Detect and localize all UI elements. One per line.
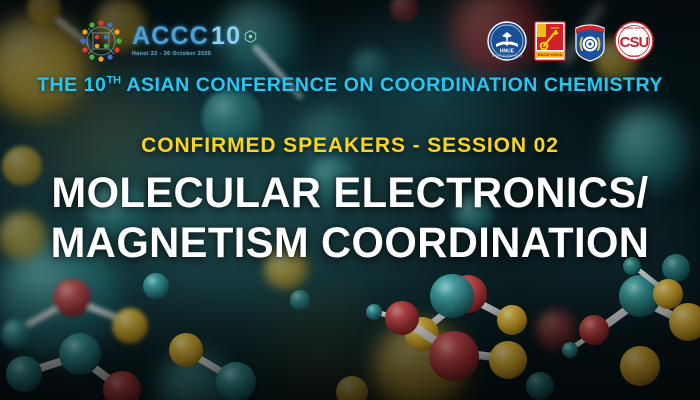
banner-header: ACCC10 Hanoi 22 - 26 October 2025 HNUE <box>0 14 700 68</box>
accc10-molecule-emblem <box>78 18 124 64</box>
accc10-dateline: Hanoi 22 - 26 October 2025 <box>132 52 257 57</box>
bach-khoa-logo[interactable]: HUST BACH KHOA <box>534 21 566 61</box>
svg-text:TRUONG DAI HOC: TRUONG DAI HOC <box>621 26 648 30</box>
conference-headline: THE 10TH ASIAN CONFERENCE ON COORDINATIO… <box>0 74 700 97</box>
csu-logo[interactable]: TRUONG DAI HOC CAN THO CSU <box>614 21 654 61</box>
svg-text:CAN THO: CAN THO <box>628 54 642 58</box>
accc10-brand: ACCC10 Hanoi 22 - 26 October 2025 <box>78 18 257 64</box>
svg-text:HNUE: HNUE <box>500 49 515 55</box>
hexagon-icon <box>244 30 257 43</box>
svg-text:CSU: CSU <box>620 34 649 51</box>
partner-logos: HNUE DAI HOC SU PHAM HA NOI HUST BACH KH… <box>487 20 654 62</box>
accc10-wordmark: ACCC10 Hanoi 22 - 26 October 2025 <box>132 24 257 57</box>
session-title-line-1: MOLECULAR ELECTRONICS/ <box>11 168 690 218</box>
svg-text:HUST: HUST <box>551 26 559 30</box>
svg-text:BACH KHOA: BACH KHOA <box>538 52 563 57</box>
headline-ordinal: TH <box>106 75 121 87</box>
session-label: CONFIRMED SPEAKERS - SESSION 02 <box>0 134 700 158</box>
svg-text:DAI HOC SU PHAM HA NOI: DAI HOC SU PHAM HA NOI <box>492 55 523 58</box>
session-title: MOLECULAR ELECTRONICS/ MAGNETISM COORDIN… <box>0 168 700 268</box>
headline-part-2: ASIAN CONFERENCE ON COORDINATION CHEMIST… <box>121 74 663 96</box>
headline-part-1: THE 10 <box>37 74 106 96</box>
accc10-wordmark-text: ACCC10 <box>132 24 257 49</box>
conference-banner: ACCC10 Hanoi 22 - 26 October 2025 HNUE <box>0 0 700 400</box>
partner-shield-logo[interactable] <box>573 20 607 62</box>
accc10-number: 10 <box>211 24 241 49</box>
hnue-logo[interactable]: HNUE DAI HOC SU PHAM HA NOI <box>487 21 527 61</box>
session-title-line-2: MAGNETISM COORDINATION <box>11 218 690 268</box>
accc10-letters: ACCC <box>132 24 209 49</box>
